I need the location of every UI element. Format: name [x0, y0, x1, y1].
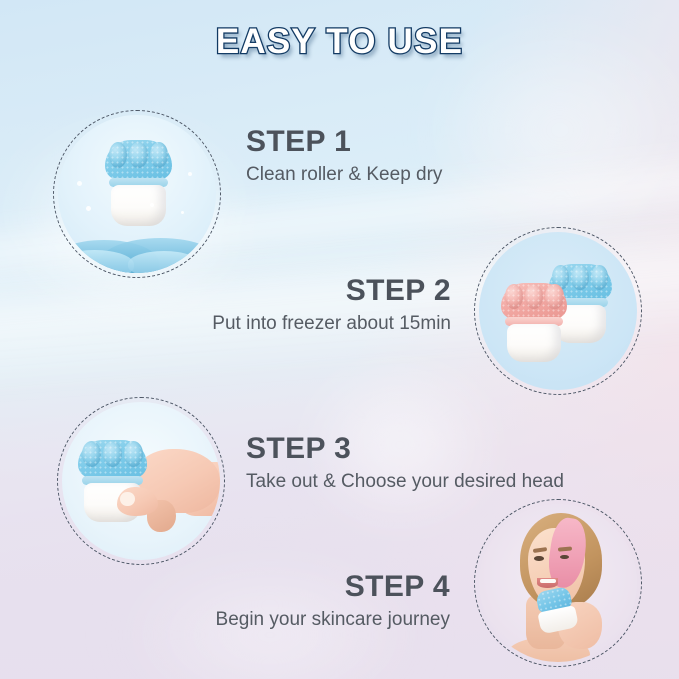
ice-roller-pink	[501, 283, 567, 362]
step-3-image-circle	[57, 397, 225, 565]
water-droplet	[150, 203, 154, 207]
roller-head	[105, 140, 171, 179]
step-2-illustration	[479, 232, 637, 390]
step-2-description: Put into freezer about 15min	[212, 313, 451, 335]
step-2-title: STEP 2	[212, 275, 451, 307]
roller-head	[501, 283, 567, 319]
roller-texture-dots	[501, 283, 567, 319]
step-1-image-circle	[53, 110, 221, 278]
step-2-image-circle	[474, 227, 642, 395]
step-3-illustration	[62, 402, 220, 560]
model-eyebrow	[558, 546, 573, 551]
infographic-page: EASY TO USE	[0, 0, 679, 679]
model-photo	[479, 504, 637, 662]
water-droplet	[77, 181, 82, 186]
step-4-title: STEP 4	[216, 571, 450, 603]
model-eye	[534, 556, 543, 561]
water-droplet	[188, 172, 192, 176]
step-4-text-block: STEP 4 Begin your skincare journey	[216, 571, 450, 630]
step-3-description: Take out & Choose your desired head	[246, 471, 564, 493]
step-2-text-block: STEP 2 Put into freezer about 15min	[212, 275, 451, 334]
fingernail	[120, 492, 134, 506]
water-droplet	[86, 206, 91, 211]
roller-texture-dots	[78, 440, 148, 478]
roller-texture-dots	[105, 140, 171, 179]
step-1-illustration	[58, 115, 216, 273]
page-title: EASY TO USE	[0, 22, 679, 62]
water-droplet	[181, 211, 184, 214]
step-4-image-circle	[474, 499, 642, 667]
roller-body	[507, 324, 561, 361]
step-3-title: STEP 3	[246, 433, 564, 465]
step-4-description: Begin your skincare journey	[216, 609, 450, 631]
step-1-text-block: STEP 1 Clean roller & Keep dry	[246, 126, 442, 185]
water-wave	[128, 251, 201, 273]
step-1-title: STEP 1	[246, 126, 442, 158]
step-3-text-block: STEP 3 Take out & Choose your desired he…	[246, 433, 564, 492]
step-4-illustration	[479, 504, 637, 662]
step-1-description: Clean roller & Keep dry	[246, 164, 442, 186]
water-splash	[58, 200, 216, 273]
roller-head	[78, 440, 148, 478]
model-teeth	[540, 579, 556, 583]
